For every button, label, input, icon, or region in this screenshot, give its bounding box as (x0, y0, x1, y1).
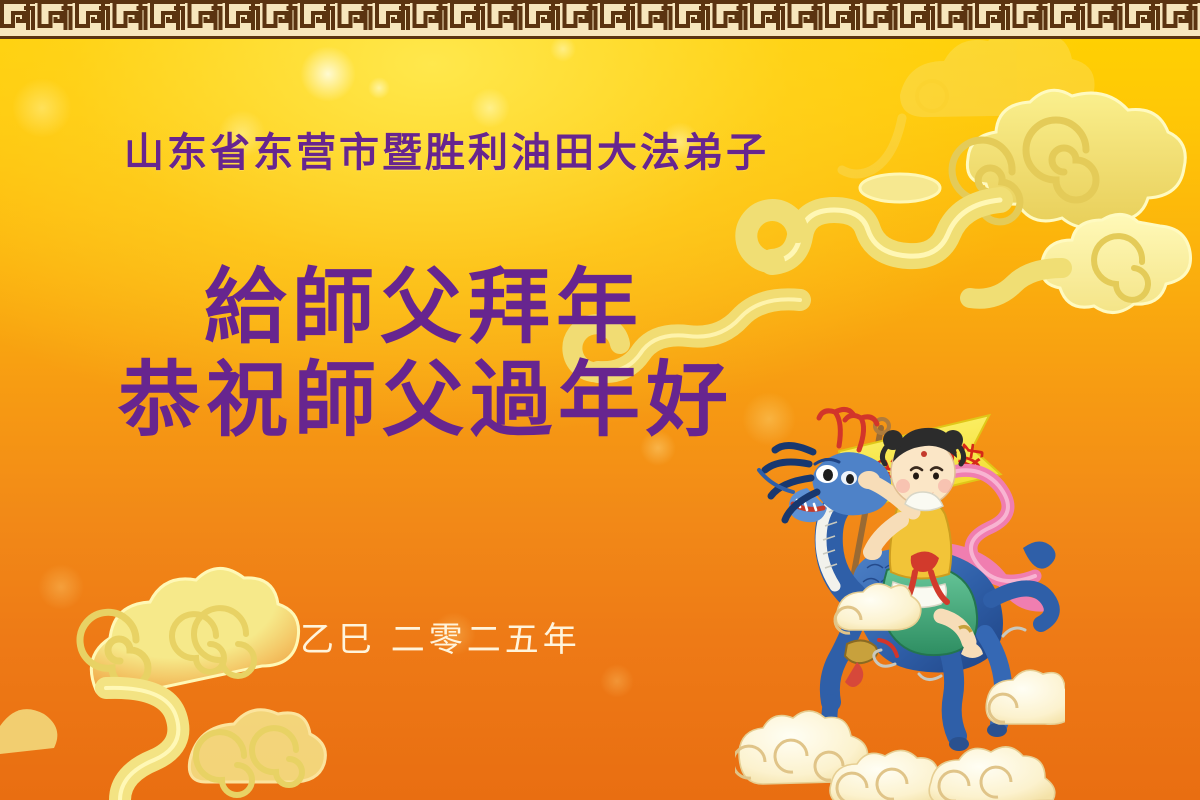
sender-line: 山东省东营市暨胜利油田大法弟子 (124, 133, 769, 173)
cloud-mid-right (970, 214, 1191, 312)
bokeh-dot (12, 78, 72, 138)
child-riding-dragon-illustration: 法 轮 大 法 好 (735, 400, 1065, 800)
bokeh-dot (38, 564, 84, 610)
bokeh-dot (368, 77, 390, 99)
bokeh-dot (600, 664, 634, 698)
bokeh-dot (238, 586, 262, 610)
bokeh-dot (300, 46, 356, 102)
cloud-bottom-left (0, 568, 325, 800)
forehead-dot (921, 451, 927, 457)
cloud-top-right-large (746, 90, 1185, 262)
foot-clouds (735, 584, 1065, 800)
child-hand (858, 471, 880, 489)
bokeh-dot (550, 36, 576, 62)
new-year-greeting-card: 法 轮 大 法 好 (0, 0, 1200, 800)
greeting-line-1: 給師父拜年 (204, 262, 734, 355)
greeting-block: 給師父拜年 恭祝師父過年好 (118, 262, 734, 447)
top-meander-border (0, 0, 1200, 39)
cloud-top-right-small (842, 29, 1095, 174)
ribbon-tassel (1023, 541, 1056, 568)
greek-key-pattern (0, 0, 1200, 33)
greeting-line-2: 恭祝師父過年好 (118, 355, 734, 448)
bokeh-dot (470, 88, 510, 128)
date-line: 乙巳 二零二五年 (300, 612, 581, 661)
